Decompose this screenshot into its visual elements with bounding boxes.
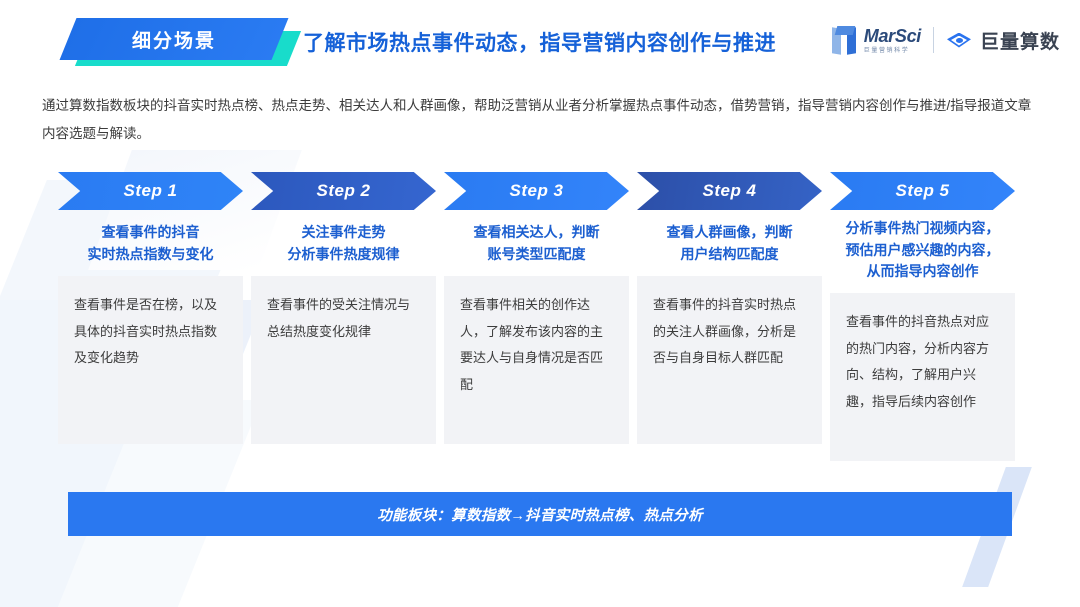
ocean-engine-logo: 巨量算数 <box>946 27 1060 54</box>
page-title: 了解市场热点事件动态，指导营销内容创作与推进 <box>303 27 776 57</box>
step-heading-line: 分析事件热度规律 <box>255 244 432 266</box>
section-tag: 细分场景 <box>68 18 298 66</box>
step-body-4: 查看事件的抖音实时热点的关注人群画像，分析是否与自身目标人群匹配 <box>637 276 822 444</box>
marsci-logo-name: MarSci <box>864 27 921 45</box>
step-heading-line: 关注事件走势 <box>255 222 432 244</box>
step-badge-label: Step 5 <box>895 181 949 201</box>
step-badge-4: Step 4 <box>637 172 822 210</box>
step-badge-label: Step 3 <box>509 181 563 201</box>
step-heading-line: 用户结构匹配度 <box>641 244 818 266</box>
marsci-mark-icon <box>832 26 858 54</box>
marsci-logo-subtitle: 巨量营销科学 <box>864 48 921 54</box>
slide-root: 细分场景 了解市场热点事件动态，指导营销内容创作与推进 MarSci 巨量营销科… <box>0 0 1080 607</box>
step-heading-line: 查看相关达人，判断 <box>448 222 625 244</box>
intro-paragraph: 通过算数指数板块的抖音实时热点榜、热点走势、相关达人和人群画像，帮助泛营销从业者… <box>42 92 1038 147</box>
slide-header: 细分场景 了解市场热点事件动态，指导营销内容创作与推进 MarSci 巨量营销科… <box>0 0 1080 78</box>
step-body-2: 查看事件的受关注情况与总结热度变化规律 <box>251 276 436 444</box>
step-list: Step 1查看事件的抖音实时热点指数与变化查看事件是否在榜，以及具体的抖音实时… <box>58 172 1022 461</box>
step-body-5: 查看事件的抖音热点对应的热门内容，分析内容方向、结构，了解用户兴趣，指导后续内容… <box>830 293 1015 461</box>
step-card-2: Step 2关注事件走势分析事件热度规律查看事件的受关注情况与总结热度变化规律 <box>251 172 436 461</box>
step-heading-line: 实时热点指数与变化 <box>62 244 239 266</box>
ocean-diamond-icon <box>946 27 973 54</box>
section-tag-label: 细分场景 <box>68 18 280 60</box>
step-card-1: Step 1查看事件的抖音实时热点指数与变化查看事件是否在榜，以及具体的抖音实时… <box>58 172 243 461</box>
step-badge-2: Step 2 <box>251 172 436 210</box>
ocean-logo-name: 巨量算数 <box>980 27 1060 54</box>
step-badge-1: Step 1 <box>58 172 243 210</box>
step-heading-4: 查看人群画像，判断用户结构匹配度 <box>637 222 822 266</box>
step-card-5: Step 5分析事件热门视频内容，预估用户感兴趣的内容，从而指导内容创作查看事件… <box>830 172 1015 461</box>
marsci-logo: MarSci 巨量营销科学 <box>832 26 921 54</box>
function-module-text: 功能板块：算数指数→抖音实时热点榜、热点分析 <box>377 504 703 525</box>
step-heading-line: 从而指导内容创作 <box>834 261 1011 283</box>
step-badge-label: Step 2 <box>316 181 370 201</box>
step-card-3: Step 3查看相关达人，判断账号类型匹配度查看事件相关的创作达人，了解发布该内… <box>444 172 629 461</box>
step-body-3: 查看事件相关的创作达人，了解发布该内容的主要达人与自身情况是否匹配 <box>444 276 629 444</box>
step-heading-line: 预估用户感兴趣的内容， <box>834 240 1011 262</box>
step-heading-line: 分析事件热门视频内容， <box>834 218 1011 240</box>
step-body-1: 查看事件是否在榜，以及具体的抖音实时热点指数及变化趋势 <box>58 276 243 444</box>
step-heading-line: 查看人群画像，判断 <box>641 222 818 244</box>
logo-divider <box>933 27 934 53</box>
step-badge-label: Step 4 <box>702 181 756 201</box>
step-heading-3: 查看相关达人，判断账号类型匹配度 <box>444 222 629 266</box>
step-heading-1: 查看事件的抖音实时热点指数与变化 <box>58 222 243 266</box>
step-badge-label: Step 1 <box>123 181 177 201</box>
function-module-bar: 功能板块：算数指数→抖音实时热点榜、热点分析 <box>68 492 1012 536</box>
step-card-4: Step 4查看人群画像，判断用户结构匹配度查看事件的抖音实时热点的关注人群画像… <box>637 172 822 461</box>
step-heading-2: 关注事件走势分析事件热度规律 <box>251 222 436 266</box>
step-heading-line: 账号类型匹配度 <box>448 244 625 266</box>
step-badge-3: Step 3 <box>444 172 629 210</box>
logo-group: MarSci 巨量营销科学 巨量算数 <box>832 20 1060 60</box>
step-heading-line: 查看事件的抖音 <box>62 222 239 244</box>
step-heading-5: 分析事件热门视频内容，预估用户感兴趣的内容，从而指导内容创作 <box>830 218 1015 283</box>
step-badge-5: Step 5 <box>830 172 1015 210</box>
